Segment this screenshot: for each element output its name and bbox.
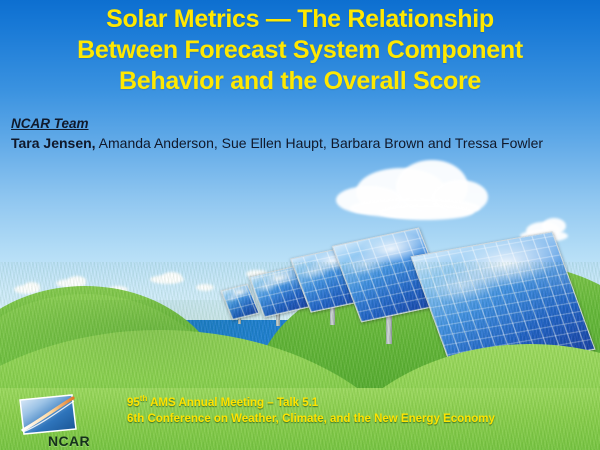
meeting-name: AMS Annual Meeting – Talk 5.1 <box>147 397 318 409</box>
co-authors: Amanda Anderson, Sue Ellen Haupt, Barbar… <box>96 135 543 151</box>
slide-title: Solar Metrics — The Relationship Between… <box>0 4 600 97</box>
conference-line-2: 6th Conference on Weather, Climate, and … <box>127 411 495 427</box>
author-list: Tara Jensen, Amanda Anderson, Sue Ellen … <box>11 135 543 151</box>
title-line-1: Solar Metrics — The Relationship <box>0 4 600 35</box>
presentation-title-slide: Solar Metrics — The Relationship Between… <box>0 0 600 450</box>
team-label: NCAR Team <box>11 116 89 131</box>
ncar-flag-icon <box>18 393 80 437</box>
title-line-3: Behavior and the Overall Score <box>0 66 600 97</box>
meeting-number: 95 <box>127 397 140 409</box>
hill-shading-overlay <box>0 300 600 380</box>
ncar-logo: NCAR <box>18 393 110 447</box>
lead-author: Tara Jensen, <box>11 135 96 151</box>
conference-line-1: 95th AMS Annual Meeting – Talk 5.1 <box>127 391 495 411</box>
conference-footer: 95th AMS Annual Meeting – Talk 5.1 6th C… <box>127 391 495 427</box>
ncar-wordmark: NCAR <box>48 433 90 449</box>
title-line-2: Between Forecast System Component <box>0 35 600 66</box>
